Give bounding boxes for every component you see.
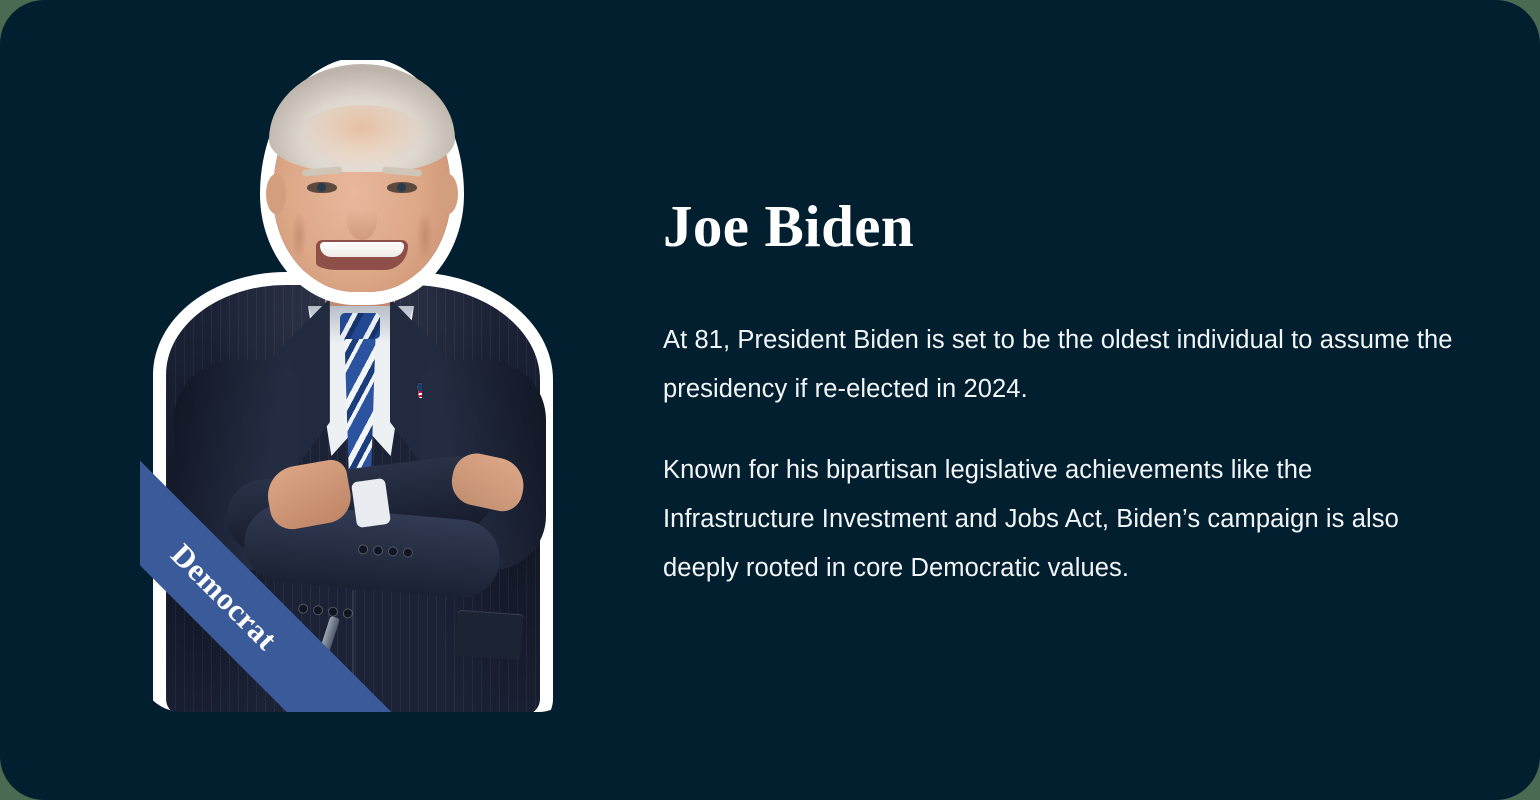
candidate-profile-card: Democrat Joe Biden At 81, President Bide… — [0, 0, 1540, 800]
portrait-panel: Democrat — [140, 60, 580, 712]
party-ribbon-label: Democrat — [164, 537, 285, 658]
smile-line-left — [291, 210, 307, 262]
smiling-mouth — [316, 240, 408, 270]
candidate-bio: At 81, President Biden is set to be the … — [663, 258, 1463, 593]
candidate-name: Joe Biden — [663, 196, 1463, 258]
party-ribbon-band[interactable]: Democrat — [140, 456, 420, 712]
nose — [347, 198, 377, 240]
eye-right — [387, 182, 417, 193]
smile-line-right — [417, 210, 433, 262]
bio-paragraph-2: Known for his bipartisan legislative ach… — [663, 446, 1463, 593]
ear-left — [266, 174, 286, 214]
ear-right — [438, 174, 458, 214]
candidate-details: Joe Biden At 81, President Biden is set … — [663, 196, 1463, 593]
teeth — [320, 242, 404, 257]
tie-knot — [340, 313, 380, 339]
bio-paragraph-1: At 81, President Biden is set to be the … — [663, 316, 1463, 414]
hair — [269, 64, 455, 172]
eye-left — [307, 182, 337, 193]
party-ribbon[interactable]: Democrat — [140, 432, 420, 712]
jacket-pocket — [454, 610, 523, 660]
head — [273, 70, 451, 292]
